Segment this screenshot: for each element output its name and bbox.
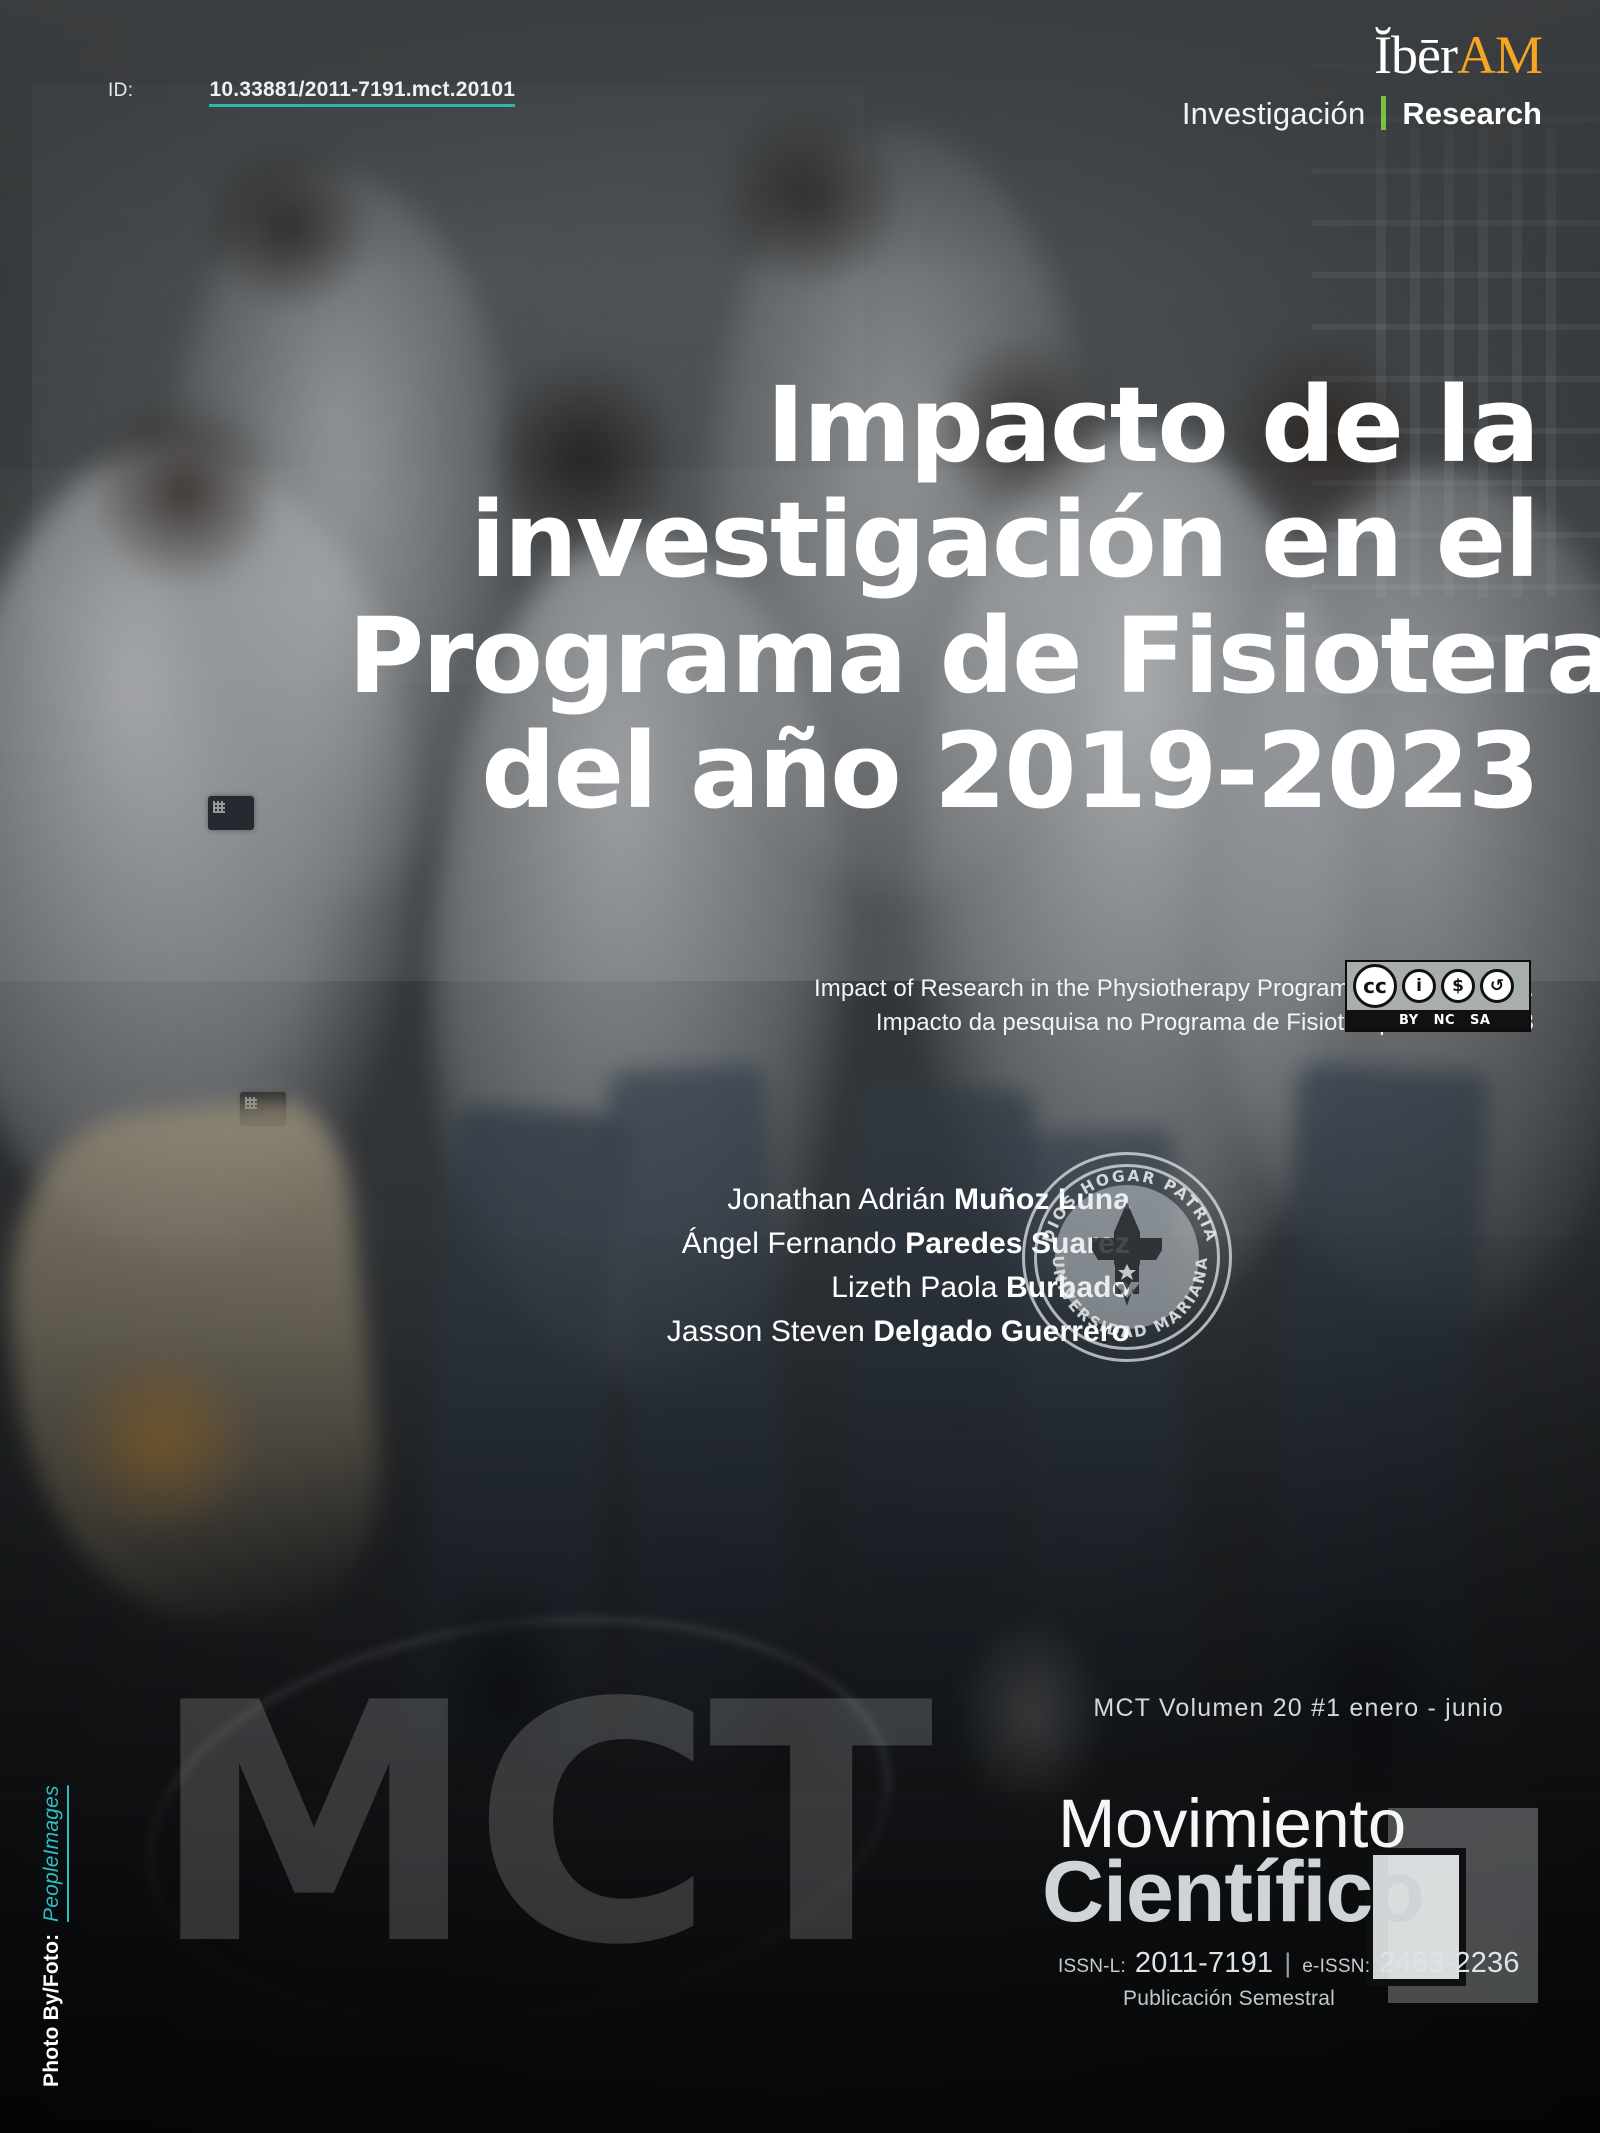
author-3-given: Lizeth Paola	[831, 1271, 1006, 1304]
author-1-given: Jonathan Adrián	[727, 1183, 954, 1216]
title-line-2: investigación en el	[348, 483, 1538, 598]
section-divider	[1381, 96, 1386, 130]
volume-issue-line: MCT Volumen 20 #1 enero - junio	[1093, 1694, 1504, 1723]
iberam-brand: ĬbērAM Investigación Research	[1182, 28, 1542, 130]
issn-l-value: 2011-7191	[1135, 1947, 1273, 1980]
journal-logo: Movimiento Científico ISSN-L: 2011-7191 …	[1042, 1790, 1512, 2011]
doi-row: ID: 10.33881/2011-7191.mct.20101	[108, 78, 515, 107]
title-line-4: del año 2019-2023	[348, 714, 1538, 829]
cc-term-by: BY	[1399, 1013, 1419, 1028]
issn-row: ISSN-L: 2011-7191 | e-ISSN: 2463-2236	[1058, 1947, 1512, 1980]
section-label-en: Research	[1402, 98, 1542, 129]
mct-watermark: MCT	[150, 1690, 928, 1961]
section-label-es: Investigación	[1182, 98, 1366, 129]
cc-term-sa: SA	[1470, 1013, 1490, 1028]
photo-credit: Photo By/Foto: PeopleImages	[40, 1785, 64, 2087]
iberam-logo: ĬbērAM	[1182, 28, 1542, 82]
article-title: Impacto de la investigación en el Progra…	[348, 368, 1538, 830]
journal-name-line-2: Científico	[1042, 1852, 1512, 1934]
author-4-given: Jasson Steven	[667, 1315, 874, 1348]
issn-l-label: ISSN-L:	[1058, 1956, 1126, 1978]
eissn-label: e-ISSN:	[1302, 1956, 1370, 1978]
cc-by-person-icon: i	[1402, 969, 1436, 1003]
cc-logo-icon: cc	[1353, 964, 1397, 1008]
section-label-group: Investigación Research	[1182, 96, 1542, 130]
cc-nc-noncommercial-icon: $	[1441, 969, 1475, 1003]
cc-icon-row: cc i $ ↺	[1347, 962, 1529, 1010]
publication-periodicity: Publicación Semestral	[1042, 1987, 1512, 2011]
universidad-mariana-seal: DIOS HOGAR PATRIA UNIVERSIDAD MARIANA	[1022, 1152, 1232, 1362]
doi-label: ID:	[108, 80, 133, 102]
photo-credit-label: Photo By/Foto:	[40, 1934, 64, 2087]
title-line-3: Programa de Fisioterapia	[348, 599, 1538, 714]
creative-commons-badge[interactable]: cc i $ ↺ BY NC SA	[1345, 960, 1531, 1032]
eissn-value: 2463-2236	[1379, 1947, 1520, 1980]
doi-link[interactable]: 10.33881/2011-7191.mct.20101	[209, 78, 515, 107]
seal-fleur-de-lis-icon	[1072, 1198, 1182, 1316]
photo-credit-source[interactable]: PeopleImages	[40, 1785, 64, 1922]
cc-sa-sharealike-icon: ↺	[1480, 969, 1514, 1003]
cc-term-labels: BY NC SA	[1347, 1010, 1529, 1030]
issn-separator: |	[1282, 1948, 1293, 1979]
author-2-given: Ángel Fernando	[682, 1227, 905, 1260]
title-line-1: Impacto de la	[348, 368, 1538, 483]
iberam-logo-accent: AM	[1457, 25, 1542, 85]
journal-cover: MCT ID: 10.33881/2011-7191.mct.20101 Ĭbē…	[0, 0, 1600, 2133]
cc-term-nc: NC	[1434, 1013, 1455, 1028]
iberam-logo-primary: Ĭbēr	[1374, 25, 1457, 85]
